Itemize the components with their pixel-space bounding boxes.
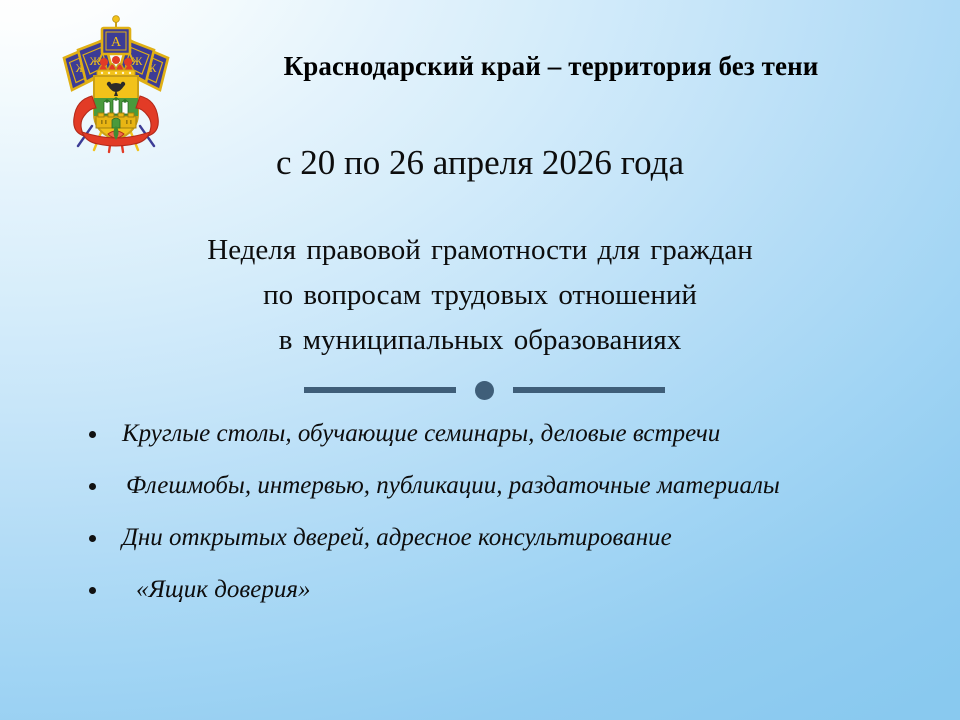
divider-bar-left — [304, 387, 456, 393]
list-item: Дни открытых дверей, адресное консультир… — [84, 525, 924, 550]
divider-bar-right — [513, 387, 665, 393]
bullet-dot-icon — [89, 431, 96, 438]
subject-line-1: Неделя правовой грамотности для граждан — [0, 228, 960, 273]
list-item: Флешмобы, интервью, публикации, раздаточ… — [84, 473, 924, 498]
activities-list: Круглые столы, обучающие семинары, делов… — [84, 421, 924, 602]
bullet-dot-icon — [89, 535, 96, 542]
bullet-dot-icon — [89, 587, 96, 594]
list-item-label: Флешмобы, интервью, публикации, раздаточ… — [122, 473, 780, 498]
list-item-label: Круглые столы, обучающие семинары, делов… — [122, 421, 720, 446]
list-item-label: Дни открытых дверей, адресное консультир… — [122, 525, 672, 550]
subject-line-3: в муниципальных образованиях — [0, 318, 960, 363]
divider-dot-icon — [475, 381, 494, 400]
list-item: «Ящик доверия» — [84, 577, 924, 602]
title-band: Краснодарский край – территория без тени — [186, 50, 916, 82]
subject-line-2: по вопросам трудовых отношений — [0, 273, 960, 318]
bullet-dot-icon — [89, 483, 96, 490]
date-range: с 20 по 26 апреля 2026 года — [0, 141, 960, 185]
krasnodar-krai-coat-of-arms-icon: Ж Ж Ж Ж A — [52, 14, 180, 154]
subject-heading: Неделя правовой грамотности для граждан … — [0, 228, 960, 363]
page-title: Краснодарский край – территория без тени — [186, 50, 916, 82]
slide-canvas: Ж Ж Ж Ж A — [0, 0, 960, 720]
section-divider — [300, 379, 668, 401]
list-item: Круглые столы, обучающие семинары, делов… — [84, 421, 924, 446]
svg-text:A: A — [111, 35, 122, 50]
list-item-label: «Ящик доверия» — [122, 577, 310, 602]
